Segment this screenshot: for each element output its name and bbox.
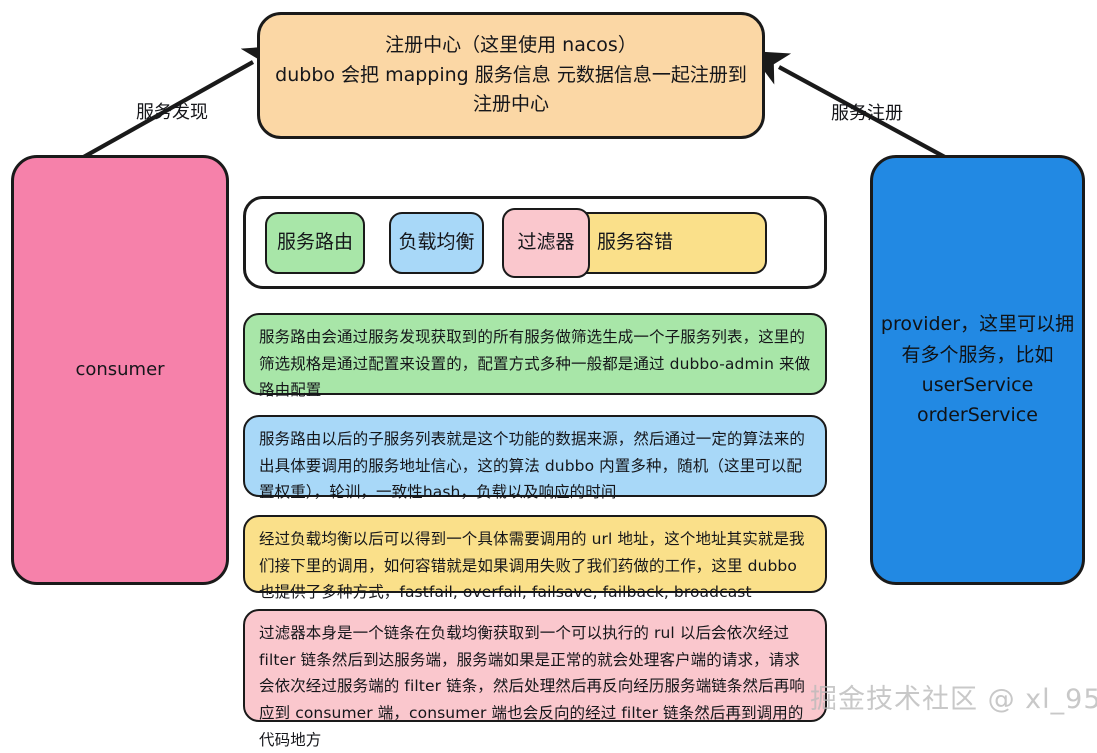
feature-fault-tolerance-label: 服务容错 (597, 228, 673, 257)
note-fault-tolerance: 经过负载均衡以后可以得到一个具体需要调用的 url 地址，这个地址其实就是我们接… (243, 515, 827, 593)
consumer-node[interactable]: consumer (11, 155, 229, 585)
feature-filter[interactable]: 过滤器 (502, 208, 590, 278)
diagram-canvas: 服务发现 服务注册 注册中心（这里使用 nacos） dubbo 会把 mapp… (0, 0, 1097, 730)
feature-service-routing-label: 服务路由 (277, 228, 353, 257)
edge-label-service-discovery: 服务发现 (136, 98, 208, 124)
feature-load-balance-label: 负载均衡 (398, 228, 474, 257)
provider-node[interactable]: provider，这里可以拥 有多个服务，比如 userService orde… (870, 155, 1085, 585)
edge-label-service-register: 服务注册 (831, 99, 903, 125)
feature-load-balance[interactable]: 负载均衡 (389, 212, 484, 274)
registry-center-label: 注册中心（这里使用 nacos） dubbo 会把 mapping 服务信息 元… (275, 31, 747, 119)
note-service-routing: 服务路由会通过服务发现获取到的所有服务做筛选生成一个子服务列表，这里的筛选规格是… (243, 313, 827, 395)
note-filter: 过滤器本身是一个链条在负载均衡获取到一个可以执行的 rul 以后会依次经过 fi… (243, 609, 827, 722)
feature-fault-tolerance[interactable]: 服务容错 过滤器 (509, 212, 767, 274)
feature-service-routing[interactable]: 服务路由 (265, 212, 365, 274)
consumer-label: consumer (75, 356, 164, 384)
note-load-balance: 服务路由以后的子服务列表就是这个功能的数据来源，然后通过一定的算法来的出具体要调… (243, 415, 827, 497)
registry-center-node[interactable]: 注册中心（这里使用 nacos） dubbo 会把 mapping 服务信息 元… (257, 12, 765, 139)
features-container: 服务路由 负载均衡 服务容错 过滤器 (243, 196, 827, 289)
feature-filter-label: 过滤器 (517, 228, 574, 257)
watermark: 掘金技术社区 @ xl_9527 (810, 677, 1097, 716)
provider-label: provider，这里可以拥 有多个服务，比如 userService orde… (881, 309, 1074, 431)
